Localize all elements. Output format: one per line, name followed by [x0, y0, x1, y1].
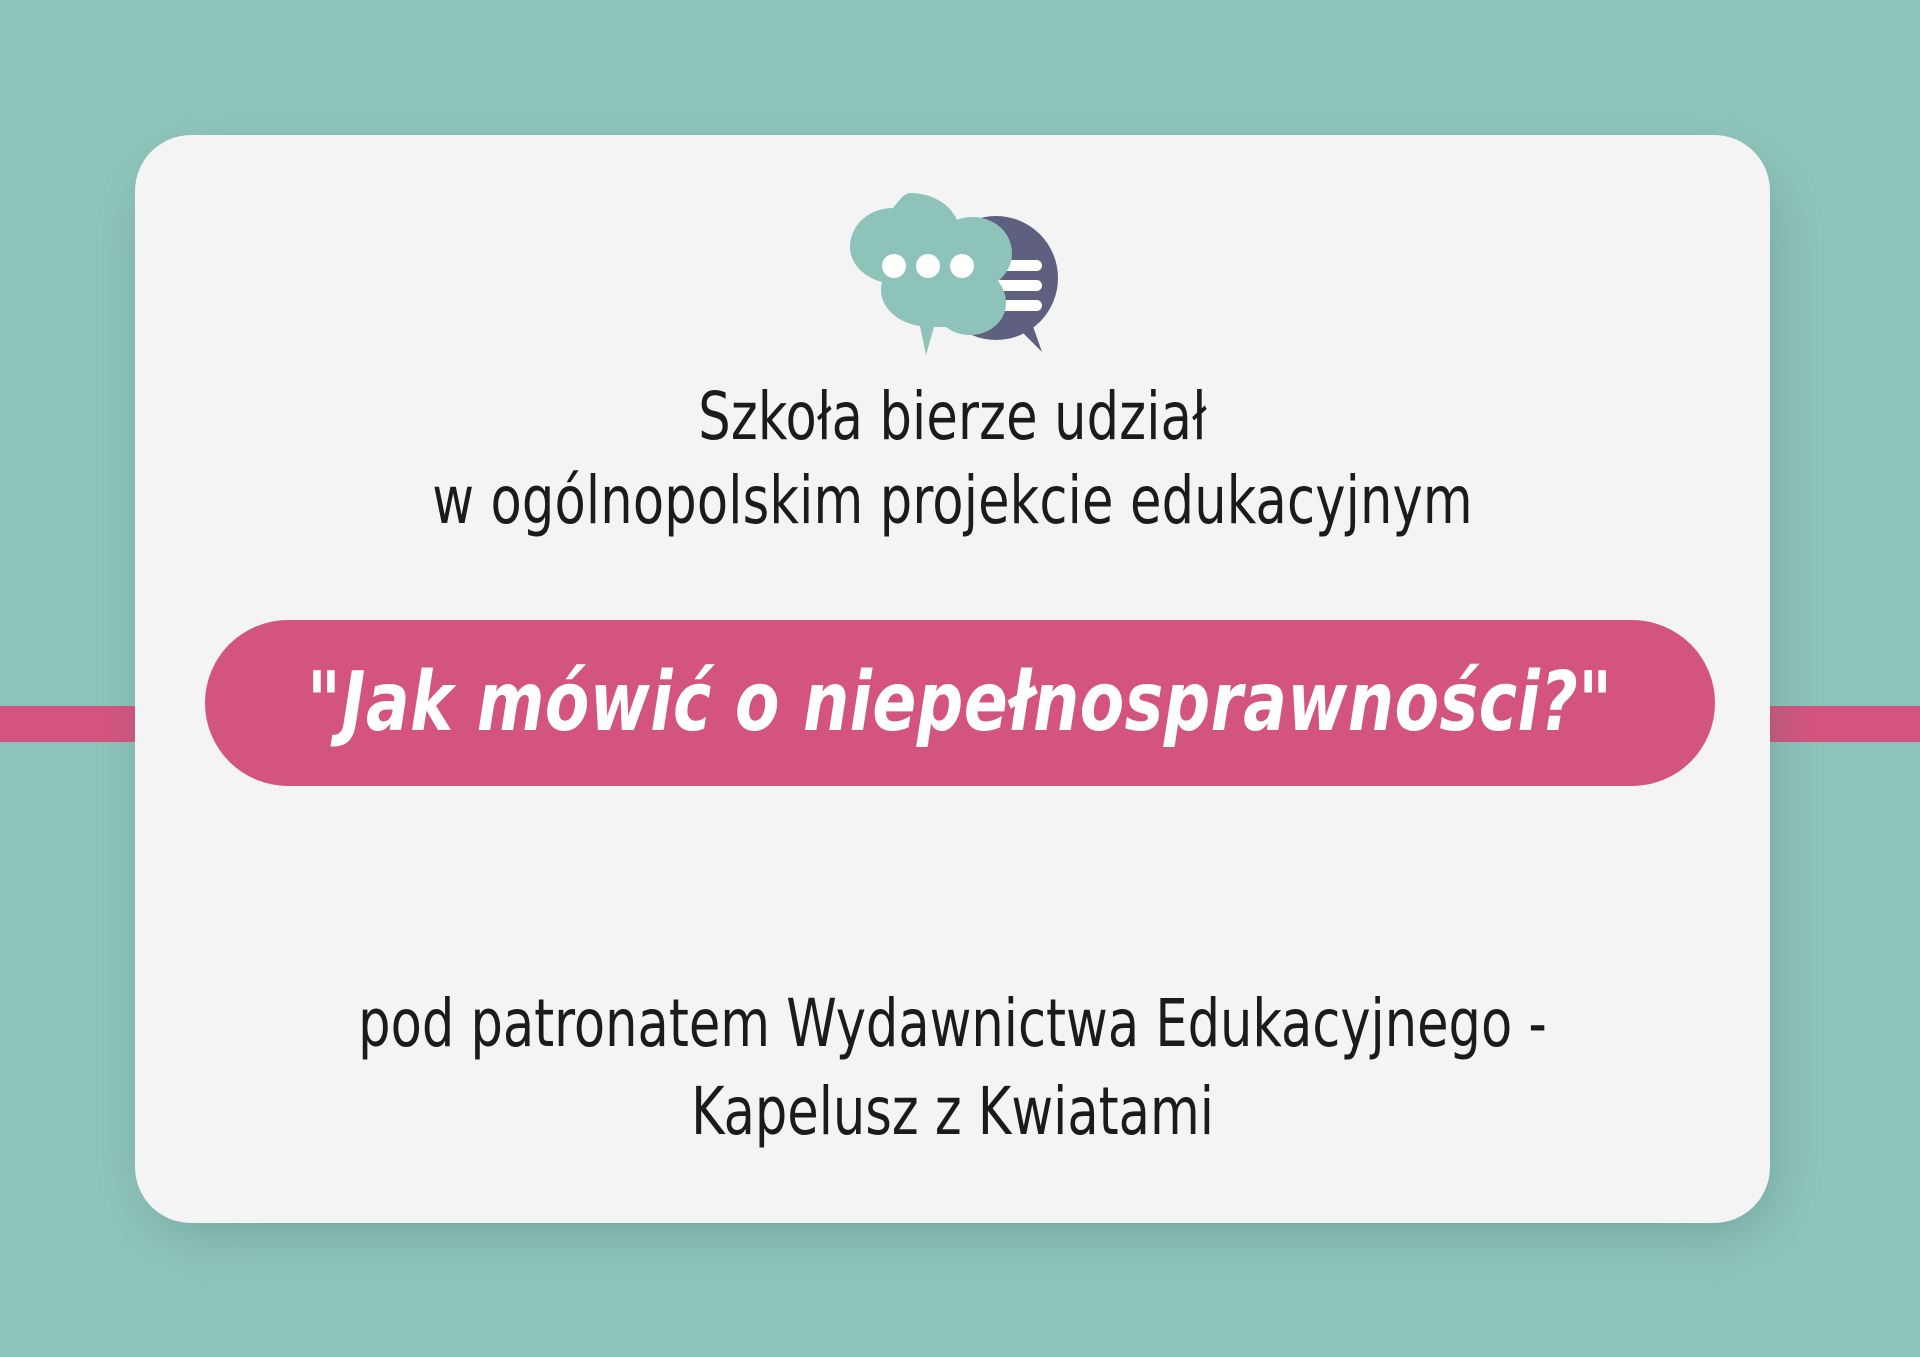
headline-line-2: w ogólnopolskim projekcie edukacyjnym	[249, 459, 1655, 543]
speech-bubbles-icon	[828, 180, 1078, 355]
headline-block: Szkoła bierze udział w ogólnopolskim pro…	[249, 375, 1655, 544]
patron-line-2: Kapelusz z Kwiatami	[249, 1068, 1655, 1156]
headline-line-1: Szkoła bierze udział	[249, 375, 1655, 459]
project-title-text: "Jak mówić o niepełnosprawności?"	[307, 662, 1613, 744]
project-title-banner: "Jak mówić o niepełnosprawności?"	[205, 620, 1715, 786]
poster-root: Szkoła bierze udział w ogólnopolskim pro…	[0, 0, 1920, 1357]
patron-block: pod patronatem Wydawnictwa Edukacyjnego …	[249, 980, 1655, 1156]
patron-line-1: pod patronatem Wydawnictwa Edukacyjnego …	[249, 980, 1655, 1068]
